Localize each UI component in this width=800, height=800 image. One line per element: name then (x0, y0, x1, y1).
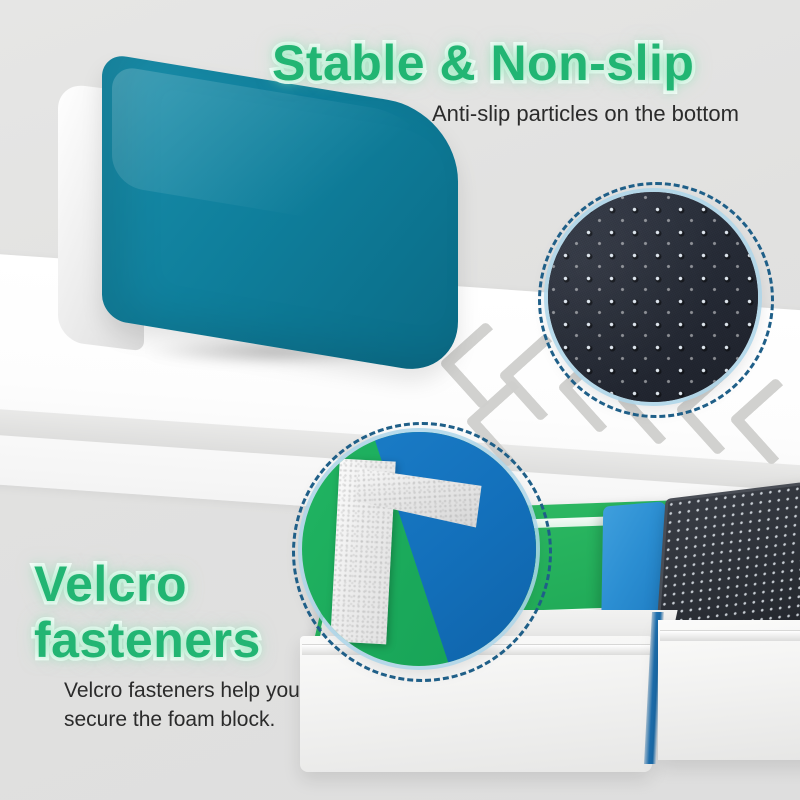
velcro-headline-line-2: fasteners (34, 612, 261, 668)
antislip-particle-texture (548, 192, 758, 402)
foam-block-right-face (658, 620, 800, 760)
antislip-callout-circle (548, 192, 758, 402)
infographic-canvas: Stable & Non-slip Anti-slip particles on… (0, 0, 800, 800)
page-title-velcro-fasteners: Velcro fasteners (34, 556, 334, 668)
velcro-body-line-2: the foam block. (133, 708, 275, 731)
page-title-stable-nonslip: Stable & Non-slip (272, 34, 694, 92)
teal-foam-wedge (52, 78, 472, 378)
velcro-body-copy: Velcro fasteners help you secure the foa… (64, 676, 364, 734)
antislip-grain-overlay (548, 192, 758, 402)
velcro-headline-line-1: Velcro (34, 556, 187, 612)
page-subtitle-antislip: Anti-slip particles on the bottom (432, 99, 739, 129)
foam-block-right-seam (660, 630, 800, 641)
wedge-main-face (102, 53, 458, 378)
velcro-callout-circle (302, 432, 536, 666)
